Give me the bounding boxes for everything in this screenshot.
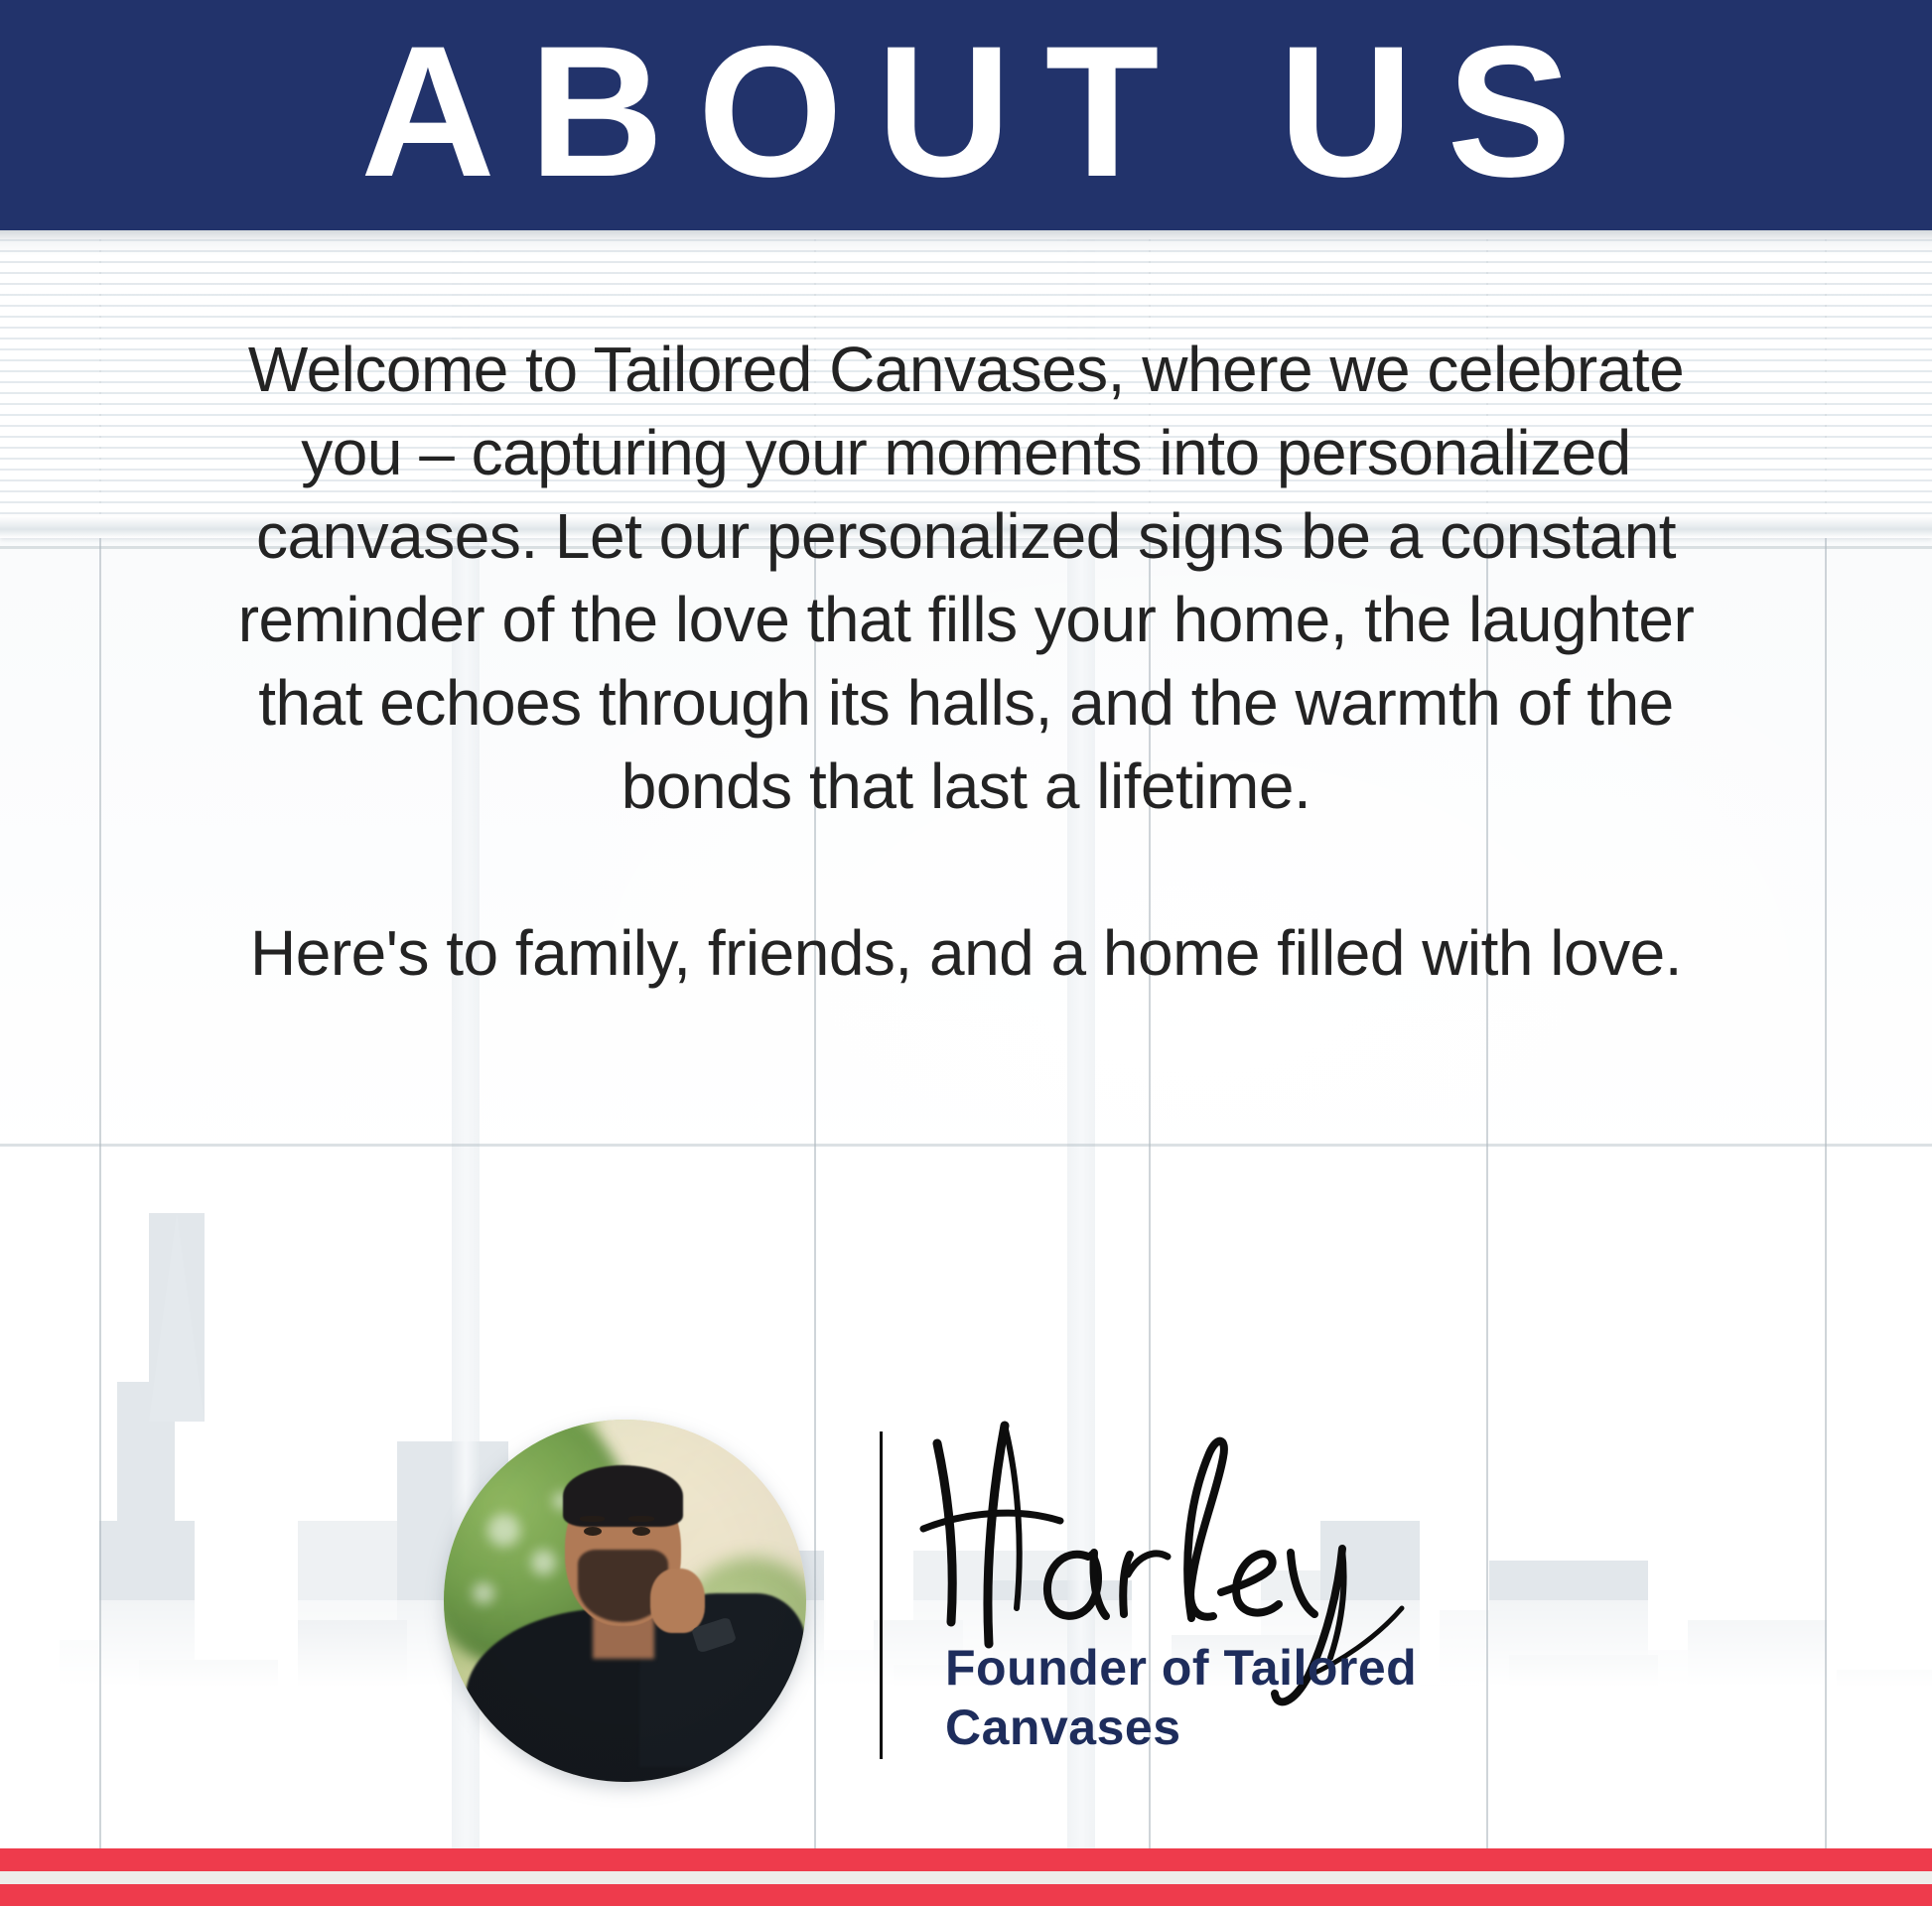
footer-bar-top (0, 1848, 1932, 1871)
founder-title-line-2: Canvases (945, 1698, 1581, 1757)
footer-bar-gap (0, 1871, 1932, 1884)
founder-title-line-1: Founder of Tailored (945, 1638, 1581, 1698)
avatar (444, 1420, 806, 1782)
signature-divider (880, 1431, 883, 1759)
paragraph-spacer (199, 828, 1733, 911)
header-banner: ABOUT US (0, 0, 1932, 230)
about-paragraph-2: Here's to family, friends, and a home fi… (199, 911, 1733, 995)
about-body-text: Welcome to Tailored Canvases, where we c… (199, 328, 1733, 995)
founder-portrait-photo (444, 1420, 806, 1782)
header-shadow (0, 230, 1932, 256)
footer-bar-bottom (0, 1884, 1932, 1906)
about-paragraph-1: Welcome to Tailored Canvases, where we c… (199, 328, 1733, 828)
about-us-card: ABOUT US Welcome to Tailored Canvases, w… (0, 0, 1932, 1906)
founder-title: Founder of Tailored Canvases (945, 1638, 1581, 1757)
page-title: ABOUT US (327, 18, 1605, 204)
